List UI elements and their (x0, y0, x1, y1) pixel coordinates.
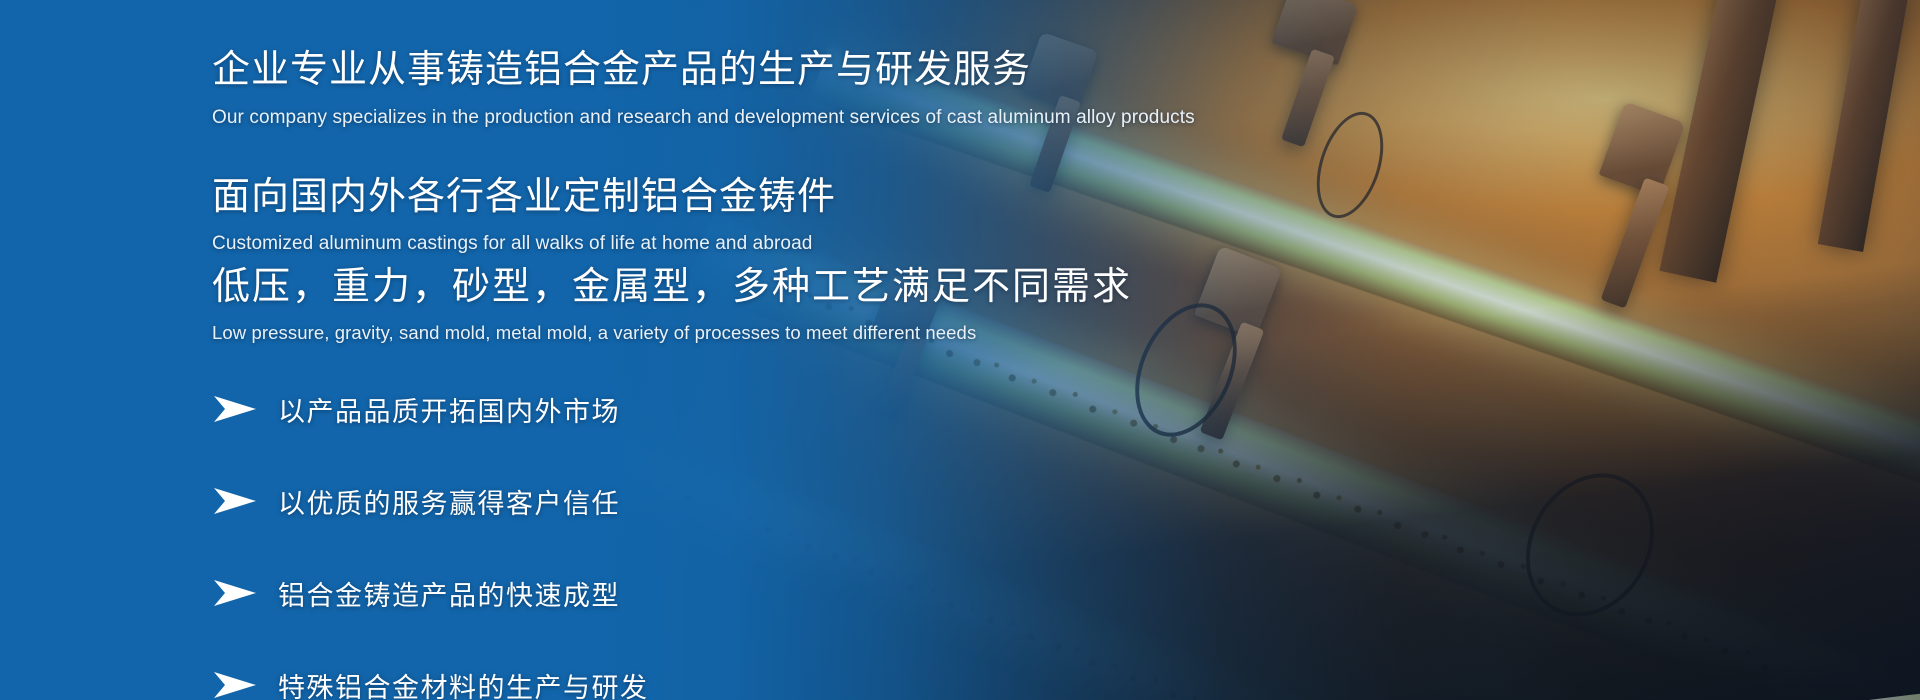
heading-block-1: 企业专业从事铸造铝合金产品的生产与研发服务 Our company specia… (212, 48, 1195, 129)
list-item: 特殊铝合金材料的生产与研发 (212, 661, 649, 700)
heading-block-2: 面向国内外各行各业定制铝合金铸件 Customized aluminum cas… (212, 175, 836, 255)
bullet-label: 以优质的服务赢得客户信任 (278, 482, 620, 521)
arrow-right-icon (212, 578, 258, 608)
heading-2-en: Customized aluminum castings for all wal… (212, 233, 836, 255)
arrow-right-icon (212, 486, 258, 516)
banner-content: 企业专业从事铸造铝合金产品的生产与研发服务 Our company specia… (212, 0, 1612, 700)
bullet-label: 铝合金铸造产品的快速成型 (278, 574, 620, 613)
arrow-right-icon (212, 394, 258, 424)
hero-banner: 企业专业从事铸造铝合金产品的生产与研发服务 Our company specia… (0, 0, 1920, 700)
feature-bullet-list: 以产品品质开拓国内外市场 以优质的服务赢得客户信任 铝合金铸造产品的快速成型 特… (212, 385, 649, 700)
heading-3-cn: 低压，重力，砂型，金属型，多种工艺满足不同需求 (212, 265, 1132, 311)
heading-1-cn: 企业专业从事铸造铝合金产品的生产与研发服务 (212, 48, 1195, 94)
list-item: 铝合金铸造产品的快速成型 (212, 569, 649, 617)
arrow-right-icon (212, 670, 258, 700)
heading-3-en: Low pressure, gravity, sand mold, metal … (212, 322, 1132, 344)
bullet-label: 以产品品质开拓国内外市场 (278, 390, 620, 429)
heading-block-3: 低压，重力，砂型，金属型，多种工艺满足不同需求 Low pressure, gr… (212, 265, 1132, 344)
heading-1-en: Our company specializes in the productio… (212, 107, 1195, 129)
list-item: 以优质的服务赢得客户信任 (212, 477, 649, 525)
bullet-label: 特殊铝合金材料的生产与研发 (278, 666, 649, 700)
list-item: 以产品品质开拓国内外市场 (212, 385, 649, 433)
heading-2-cn: 面向国内外各行各业定制铝合金铸件 (212, 175, 836, 221)
